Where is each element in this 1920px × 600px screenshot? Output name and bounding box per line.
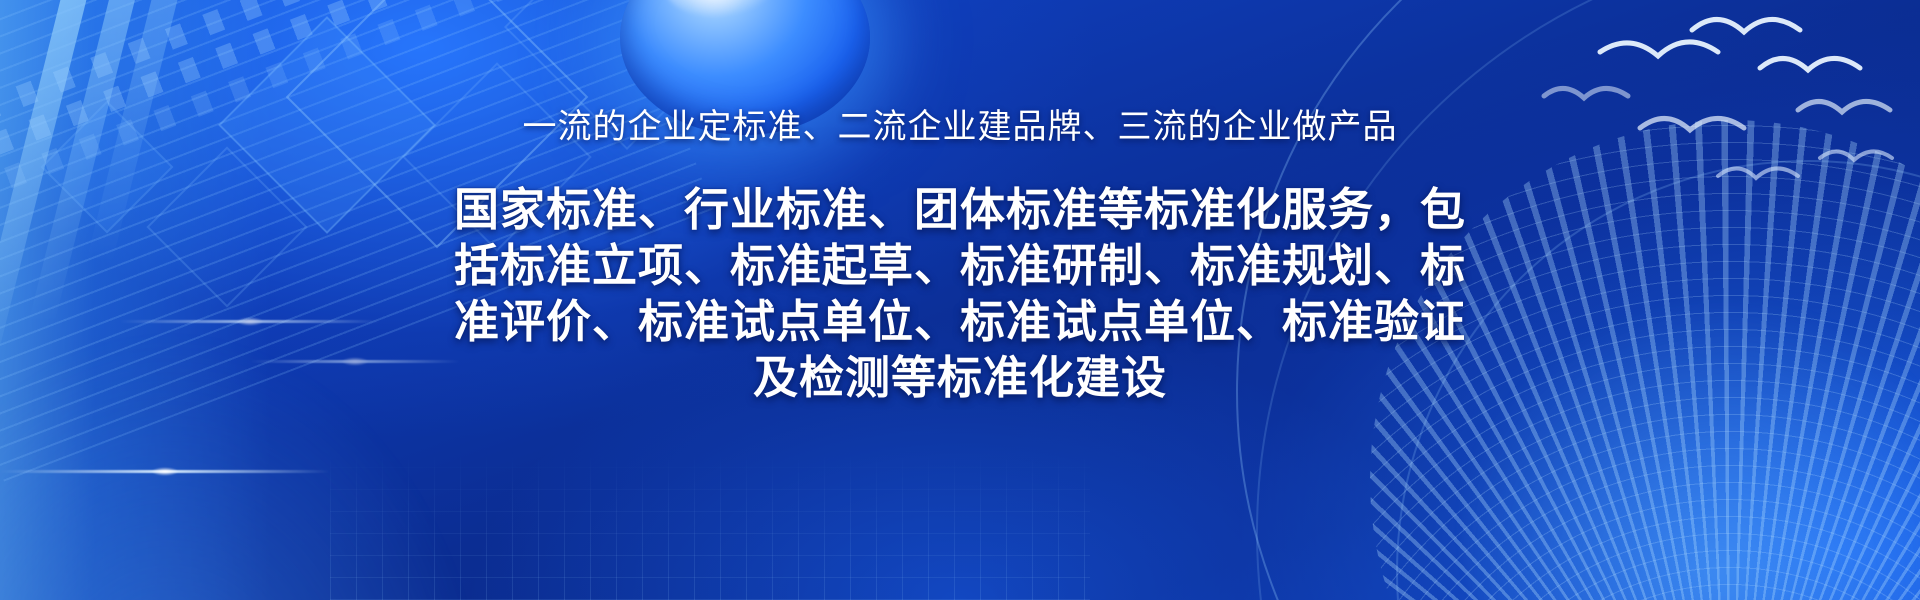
banner-headline: 一流的企业定标准、二流企业建品牌、三流的企业做产品 — [523, 110, 1398, 144]
banner-body-copy: 国家标准、行业标准、团体标准等标准化服务，包括标准立项、标准起草、标准研制、标准… — [440, 182, 1480, 406]
banner-text-block: 一流的企业定标准、二流企业建品牌、三流的企业做产品 国家标准、行业标准、团体标准… — [0, 0, 1920, 600]
promotional-banner: 一流的企业定标准、二流企业建品牌、三流的企业做产品 国家标准、行业标准、团体标准… — [0, 0, 1920, 600]
